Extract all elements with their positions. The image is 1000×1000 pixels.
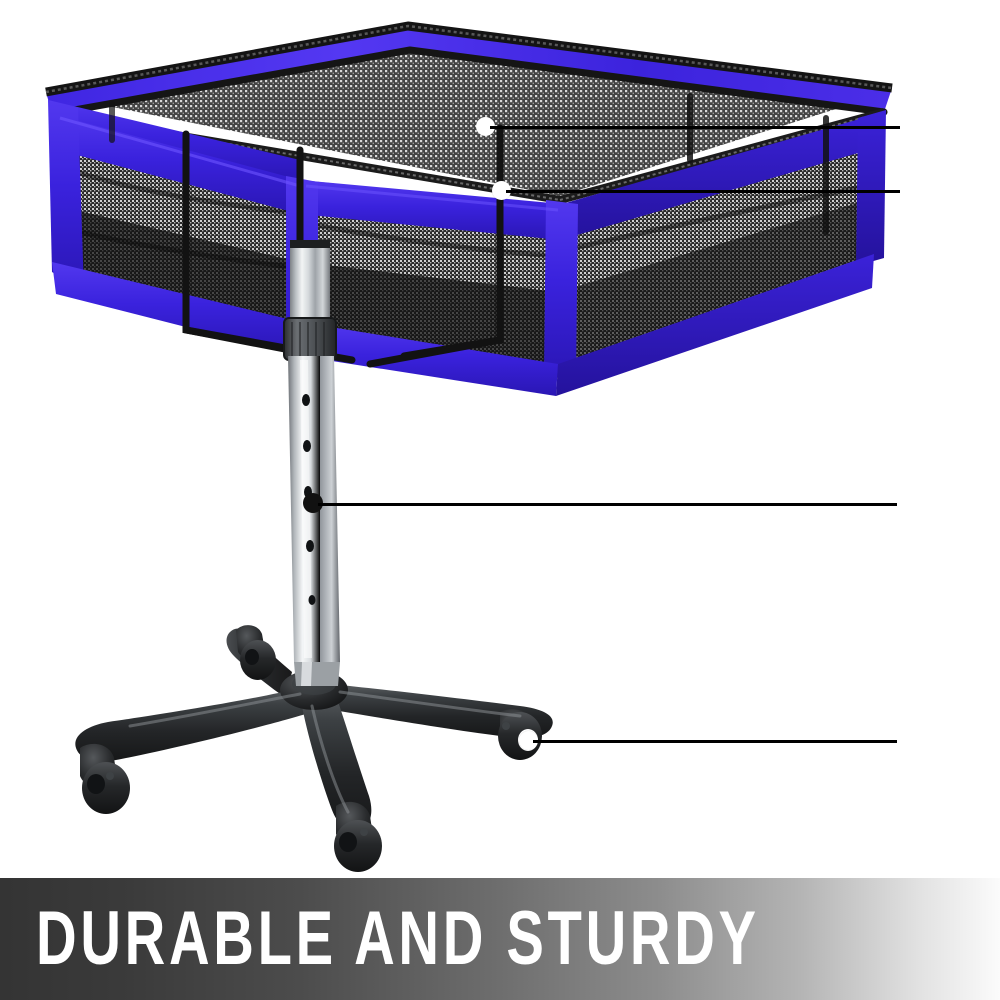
bottom-banner: DURABLE AND STURDY	[0, 878, 1000, 1000]
metal-frame-underline	[605, 190, 900, 193]
resin-net-underline	[605, 126, 900, 129]
nylon-caster-underline	[590, 740, 897, 743]
callouts-layer: Resin Net Metal Frame Stainless Steel Tu…	[0, 0, 1000, 878]
stainless-steel-tube-underline	[440, 503, 897, 506]
banner-tagline: DURABLE AND STURDY	[36, 901, 760, 977]
infographic-page: Resin Net Metal Frame Stainless Steel Tu…	[0, 0, 1000, 1000]
